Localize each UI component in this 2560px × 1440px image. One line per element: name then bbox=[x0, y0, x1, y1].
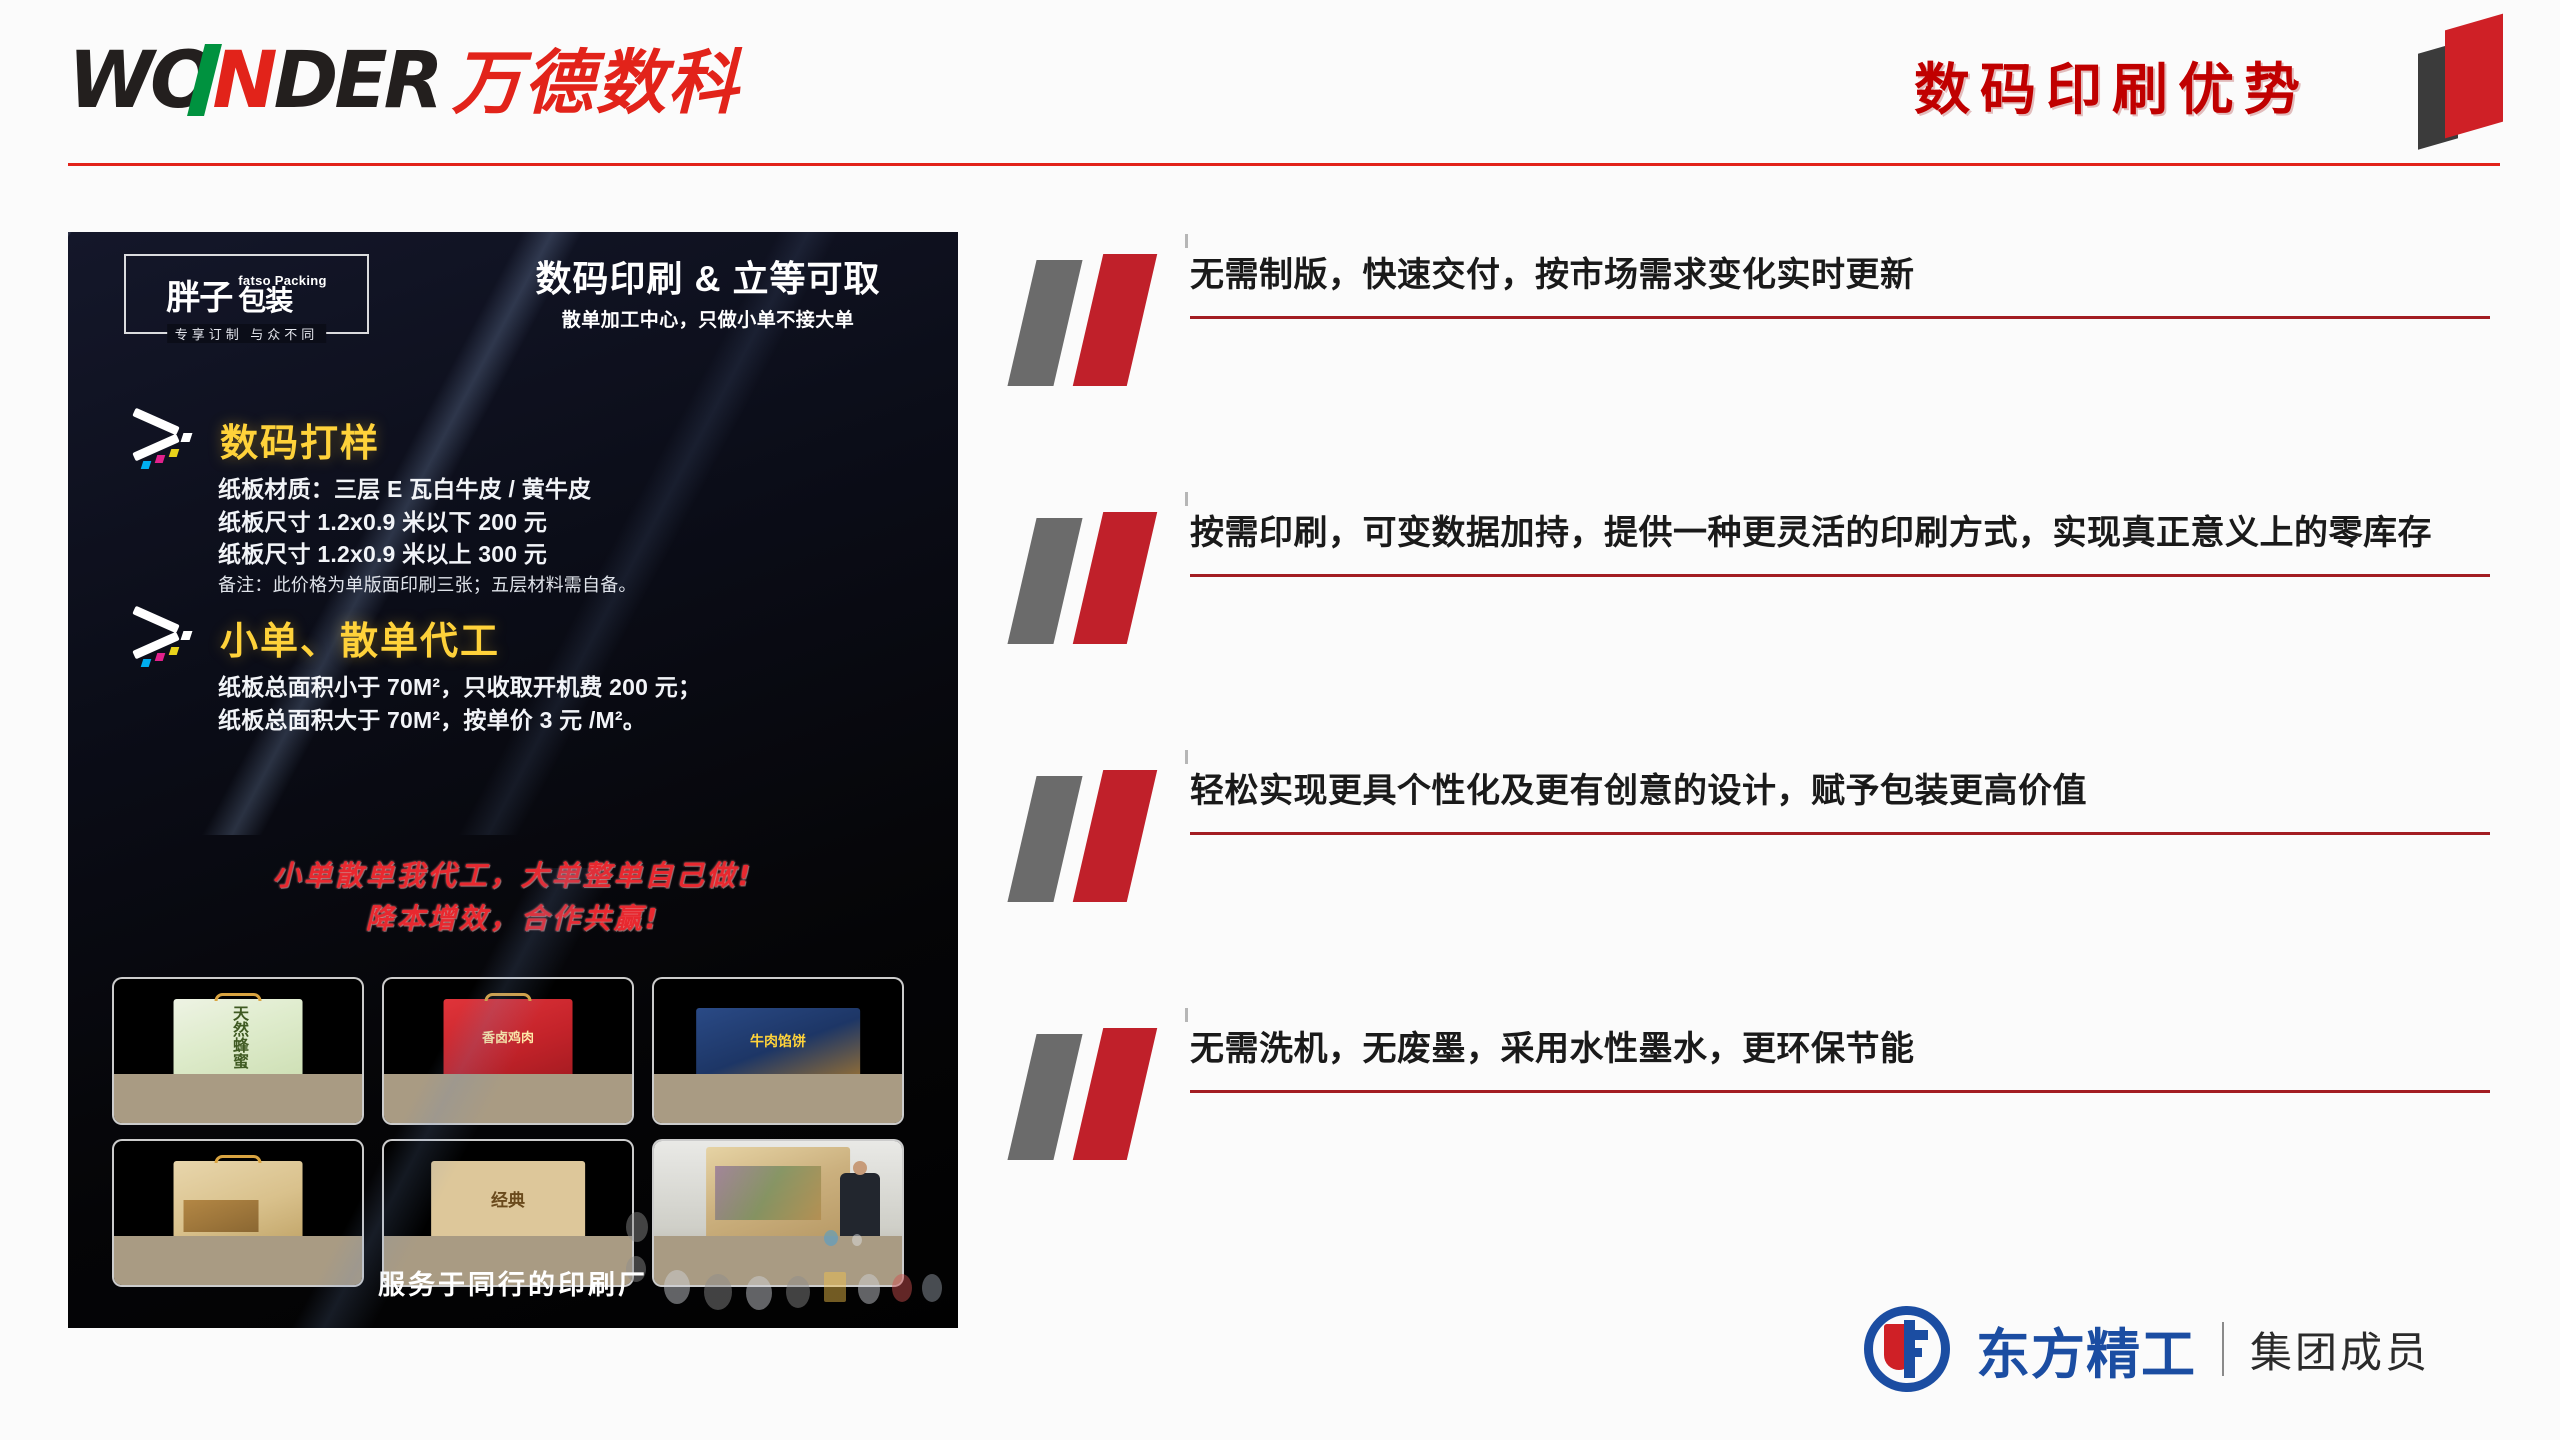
double-slash-marker-icon bbox=[1018, 254, 1188, 386]
header-divider bbox=[68, 163, 2500, 166]
double-slash-marker-icon bbox=[1018, 770, 1188, 902]
dongfang-jinggong-logo-icon bbox=[1864, 1306, 1950, 1392]
tick-mark bbox=[1185, 750, 1188, 764]
brand-suffix: DER bbox=[274, 36, 440, 126]
section-2-header: 小单、散单代工 bbox=[130, 610, 701, 665]
tick-mark bbox=[1185, 492, 1188, 506]
tick-mark bbox=[1185, 1008, 1188, 1022]
advantage-text: 无需制版，快速交付，按市场需求变化实时更新 bbox=[1190, 250, 2490, 316]
section-1-lines: 纸板材质：三层 E 瓦白牛皮 / 黄牛皮 纸板尺寸 1.2x0.9 米以下 20… bbox=[218, 473, 637, 599]
group-member-logo: 东方精工 集团成员 bbox=[1864, 1306, 2430, 1392]
arrow-chevron-icon bbox=[130, 413, 204, 467]
decorative-dot-pattern bbox=[618, 1200, 948, 1320]
advantage-underline bbox=[1190, 316, 2490, 319]
fatso-logo-tagline: 专享订制 与众不同 bbox=[167, 324, 327, 343]
fatso-logo-name: 胖子 bbox=[166, 282, 232, 314]
advantage-item: 无需制版，快速交付，按市场需求变化实时更新 bbox=[1010, 250, 2490, 380]
section-2-line-1: 纸板总面积小于 70M²，只收取开机费 200 元； bbox=[218, 671, 701, 704]
brand-chinese-name: 万德数科 bbox=[452, 48, 740, 118]
tick-mark bbox=[1185, 234, 1188, 248]
company-name: 东方精工 bbox=[1976, 1310, 2196, 1389]
wonder-brand-logo: WONDER 万德数科 bbox=[68, 42, 740, 120]
poster-headline-block: 数码印刷 & 立等可取 散单加工中心，只做小单不接大单 bbox=[488, 258, 928, 332]
section-1-line-1: 纸板材质：三层 E 瓦白牛皮 / 黄牛皮 bbox=[218, 473, 637, 506]
section-2-line-2: 纸板总面积大于 70M²，按单价 3 元 /M²。 bbox=[218, 704, 701, 737]
page-title: 数码印刷优势 bbox=[1914, 45, 2310, 126]
advantage-underline bbox=[1190, 832, 2490, 835]
brand-letter-n: N bbox=[212, 42, 273, 120]
poster-section-digital-proofing: 数码打样 纸板材质：三层 E 瓦白牛皮 / 黄牛皮 纸板尺寸 1.2x0.9 米… bbox=[130, 412, 637, 599]
product-photo bbox=[112, 977, 364, 1125]
advantage-text: 按需印刷，可变数据加持，提供一种更灵活的印刷方式，实现真正意义上的零库存 bbox=[1190, 508, 2490, 574]
slide-root: WONDER 万德数科 数码印刷优势 胖子 fatso Packing 包装 专… bbox=[0, 0, 2560, 1440]
corner-red-shape bbox=[2445, 14, 2503, 139]
fatso-packing-logo: 胖子 fatso Packing 包装 专享订制 与众不同 bbox=[124, 254, 369, 334]
corner-ribbon-decoration bbox=[2400, 10, 2520, 140]
advantage-text: 无需洗机，无废墨，采用水性墨水，更环保节能 bbox=[1190, 1024, 2490, 1090]
poster-slogan-line-1: 小单散单我代工，大单整单自己做! bbox=[68, 854, 958, 897]
brand-wonder-wordmark: WONDER bbox=[68, 42, 440, 120]
poster-section-small-order-oem: 小单、散单代工 纸板总面积小于 70M²，只收取开机费 200 元； 纸板总面积… bbox=[130, 610, 701, 736]
advantage-underline bbox=[1190, 574, 2490, 577]
product-photo bbox=[652, 977, 904, 1125]
arrow-chevron-icon bbox=[130, 611, 204, 665]
fatso-logo-stack: fatso Packing 包装 bbox=[238, 274, 326, 315]
section-1-note: 备注：此价格为单版面印刷三张；五层材料需自备。 bbox=[218, 573, 637, 599]
double-slash-marker-icon bbox=[1018, 1028, 1188, 1160]
advantage-item: 按需印刷，可变数据加持，提供一种更灵活的印刷方式，实现真正意义上的零库存 bbox=[1010, 508, 2490, 638]
section-2-lines: 纸板总面积小于 70M²，只收取开机费 200 元； 纸板总面积大于 70M²，… bbox=[218, 671, 701, 736]
double-slash-marker-icon bbox=[1018, 512, 1188, 644]
poster-slogan: 小单散单我代工，大单整单自己做! 降本增效，合作共赢! bbox=[68, 854, 958, 941]
footer-divider bbox=[2222, 1322, 2224, 1376]
section-2-title: 小单、散单代工 bbox=[220, 610, 500, 665]
fatso-logo-row: 胖子 fatso Packing 包装 bbox=[166, 274, 326, 315]
section-1-line-3: 纸板尺寸 1.2x0.9 米以上 300 元 bbox=[218, 538, 637, 571]
advantages-list: 无需制版，快速交付，按市场需求变化实时更新 按需印刷，可变数据加持，提供一种更灵… bbox=[1010, 250, 2490, 1282]
promo-poster-image: 胖子 fatso Packing 包装 专享订制 与众不同 数码印刷 & 立等可… bbox=[68, 232, 958, 1328]
advantage-item: 轻松实现更具个性化及更有创意的设计，赋予包装更高价值 bbox=[1010, 766, 2490, 896]
advantage-underline bbox=[1190, 1090, 2490, 1093]
advantage-item: 无需洗机，无废墨，采用水性墨水，更环保节能 bbox=[1010, 1024, 2490, 1154]
section-1-header: 数码打样 bbox=[130, 412, 637, 467]
advantage-text: 轻松实现更具个性化及更有创意的设计，赋予包装更高价值 bbox=[1190, 766, 2490, 832]
poster-slogan-line-2: 降本增效，合作共赢! bbox=[68, 897, 958, 940]
product-photo bbox=[382, 977, 634, 1125]
poster-footer-text: 服务于同行的印刷厂 bbox=[68, 1263, 958, 1302]
fatso-logo-name2: 包装 bbox=[238, 287, 292, 315]
poster-subheadline: 散单加工中心，只做小单不接大单 bbox=[488, 305, 928, 332]
section-1-title: 数码打样 bbox=[220, 412, 380, 467]
section-1-line-2: 纸板尺寸 1.2x0.9 米以下 200 元 bbox=[218, 506, 637, 539]
group-member-label: 集团成员 bbox=[2250, 1319, 2430, 1380]
poster-headline: 数码印刷 & 立等可取 bbox=[488, 258, 928, 299]
